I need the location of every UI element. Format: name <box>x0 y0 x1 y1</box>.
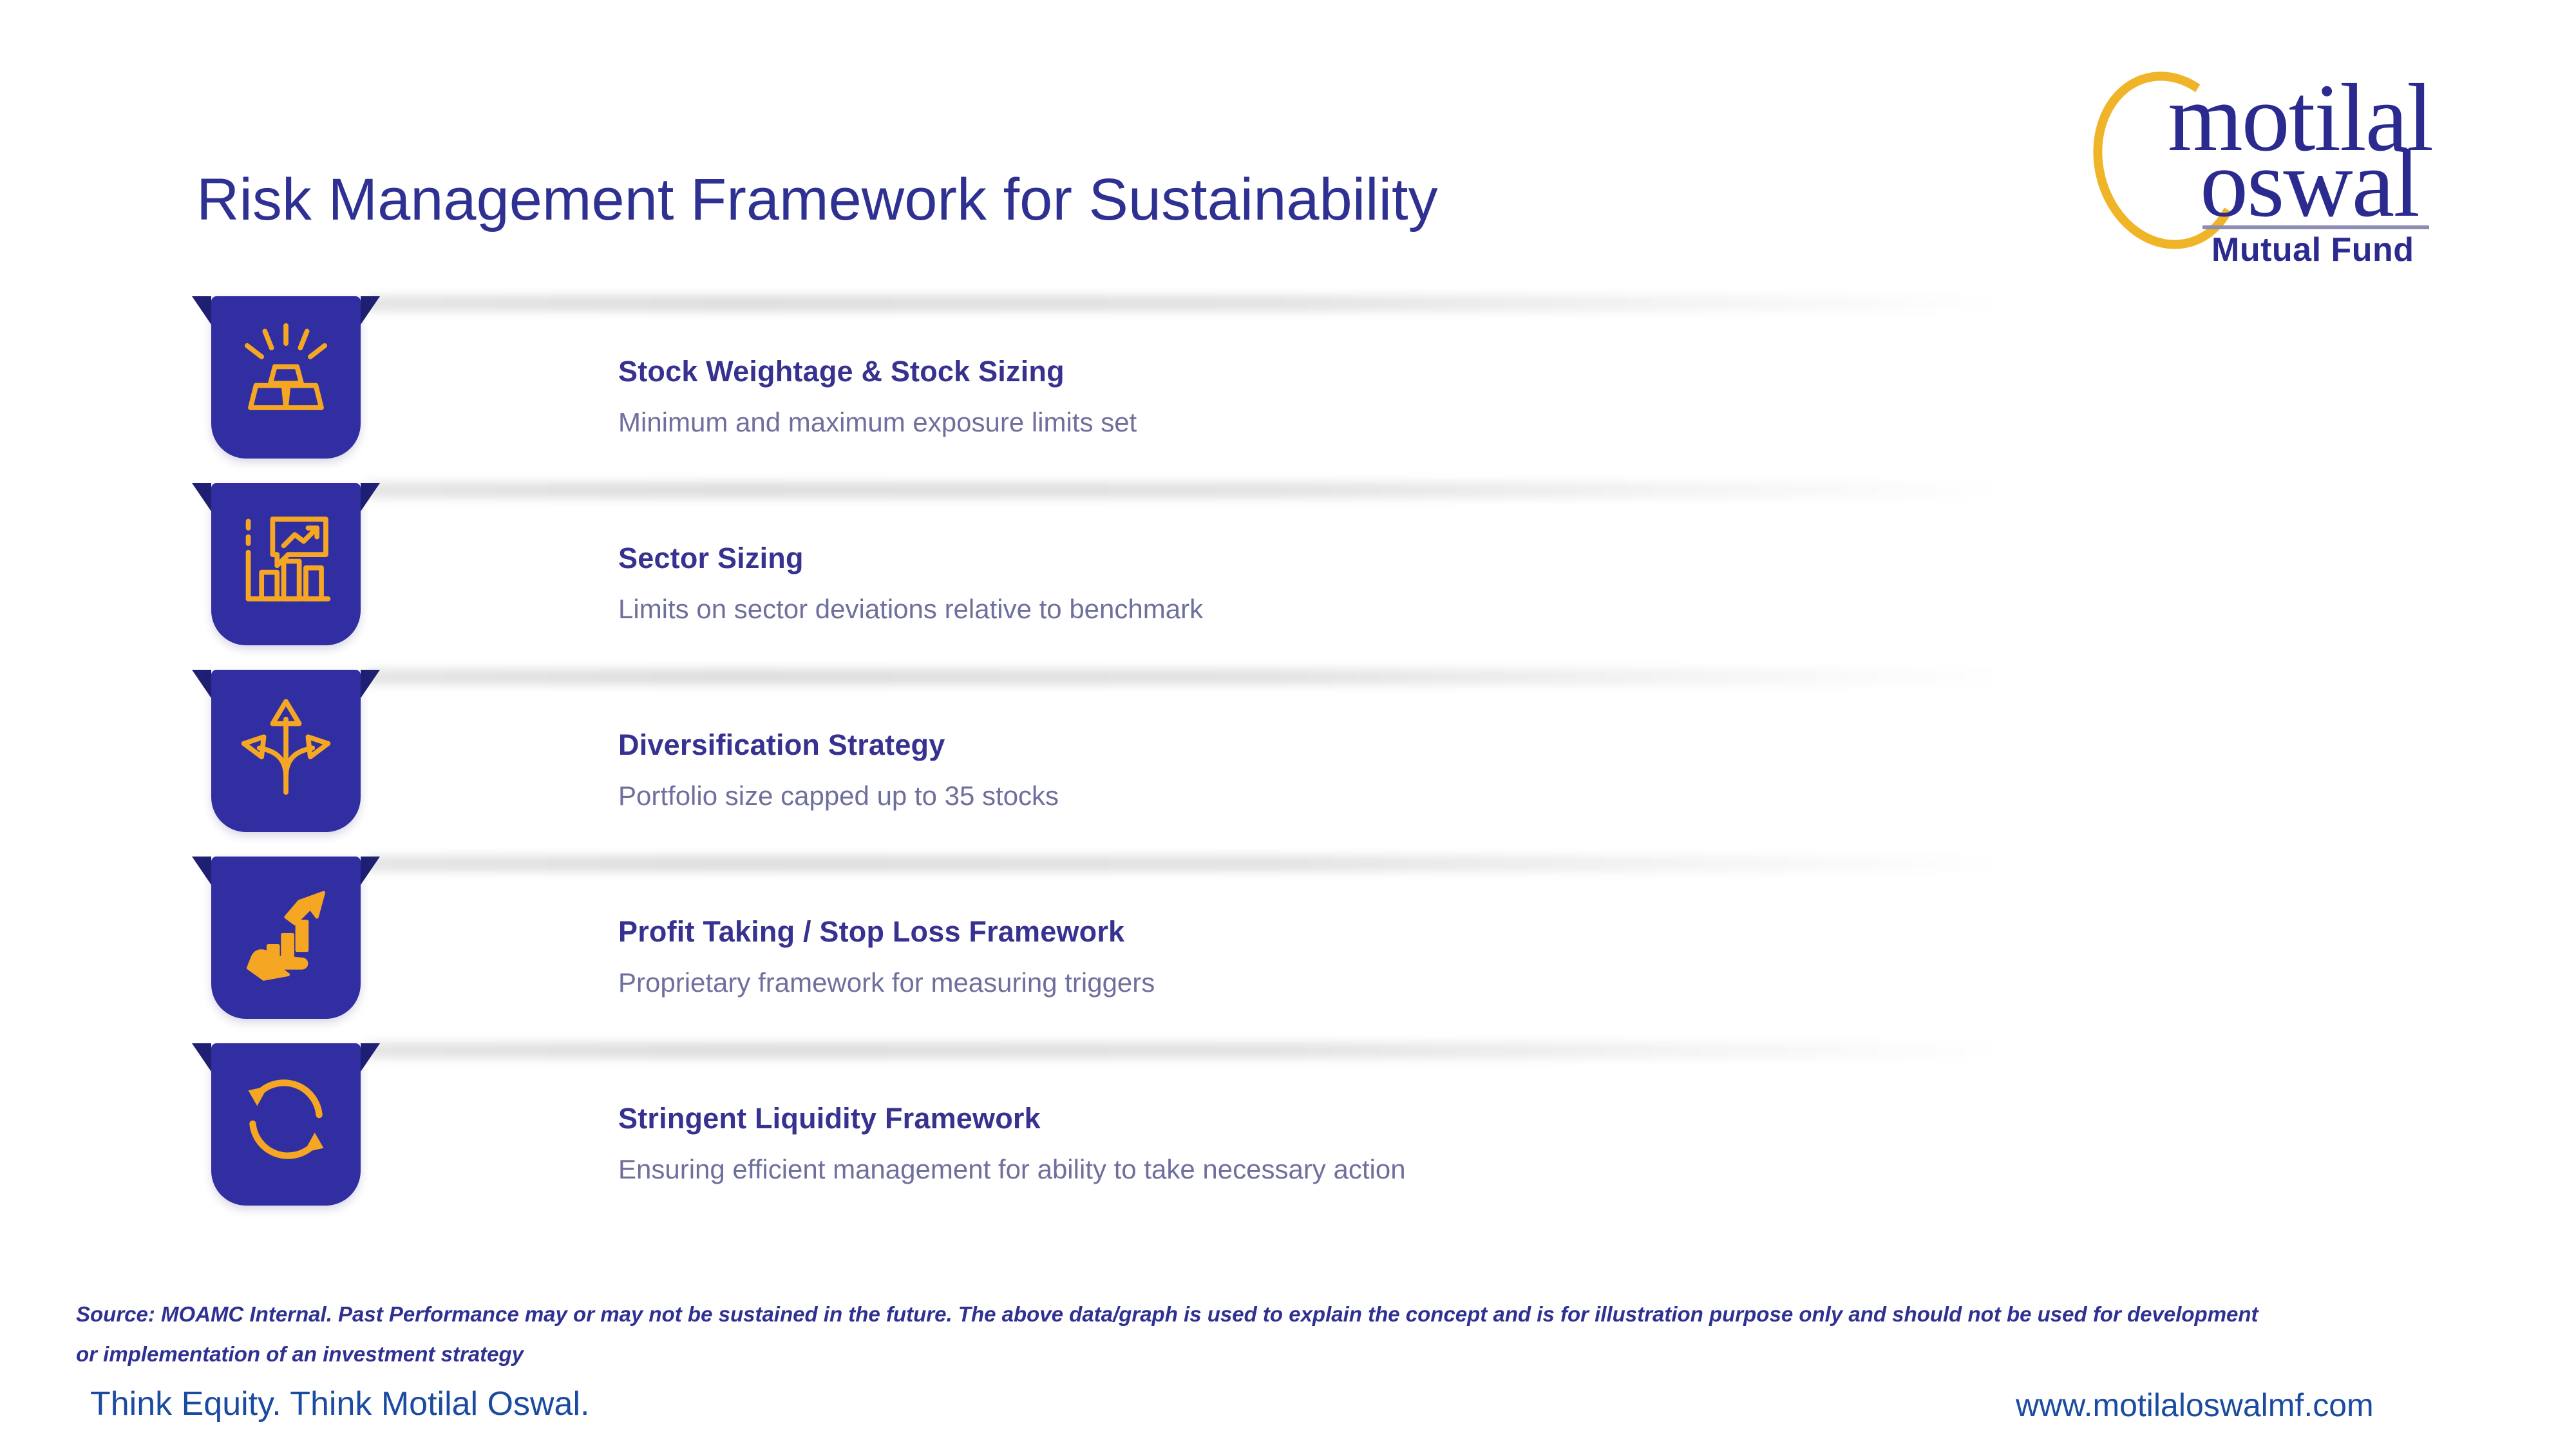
item-subtext: Portfolio size capped up to 35 stocks <box>618 781 1059 811</box>
logo-divider <box>2202 225 2429 229</box>
row-separator <box>367 668 2009 685</box>
gold-bars-icon <box>231 317 341 428</box>
bar-chart-growth-icon <box>231 504 341 614</box>
logo-line-mutual-fund: Mutual Fund <box>2211 232 2414 268</box>
list-item[interactable]: Diversification Strategy Portfolio size … <box>193 658 2125 845</box>
branching-arrows-icon <box>231 690 341 801</box>
badge-3 <box>211 658 361 832</box>
badge-tail-right <box>361 857 380 885</box>
badge-tail-right <box>361 296 380 325</box>
badge-2 <box>211 471 361 645</box>
badge-tail-right <box>361 1043 380 1072</box>
list-item[interactable]: Stringent Liquidity Framework Ensuring e… <box>193 1032 2125 1225</box>
badge-tail-left <box>192 1043 211 1072</box>
badge-1 <box>211 285 361 459</box>
badge-tail-right <box>361 483 380 511</box>
row-separator <box>367 295 2009 312</box>
page-title: Risk Management Framework for Sustainabi… <box>196 166 1438 233</box>
list-item[interactable]: Sector Sizing Limits on sector deviation… <box>193 471 2125 658</box>
badge-5 <box>211 1032 361 1206</box>
website-link[interactable]: www.motilaloswalmf.com <box>2016 1386 2374 1425</box>
source-note-line2: or implementation of an investment strat… <box>76 1334 2459 1374</box>
badge-tail-left <box>192 857 211 885</box>
brand-logo: motilal oswal Mutual Fund <box>2085 39 2497 270</box>
hand-rising-bars-icon <box>231 877 341 988</box>
item-heading: Stock Weightage & Stock Sizing <box>618 355 1065 388</box>
row-separator <box>367 855 2009 872</box>
item-heading: Sector Sizing <box>618 542 804 574</box>
badge-4 <box>211 845 361 1019</box>
item-heading: Stringent Liquidity Framework <box>618 1103 1041 1135</box>
item-subtext: Minimum and maximum exposure limits set <box>618 407 1137 438</box>
item-subtext: Proprietary framework for measuring trig… <box>618 967 1155 998</box>
item-heading: Profit Taking / Stop Loss Framework <box>618 916 1124 948</box>
list-item[interactable]: Stock Weightage & Stock Sizing Minimum a… <box>193 285 2125 471</box>
circular-arrows-icon <box>231 1064 341 1175</box>
badge-tail-right <box>361 670 380 698</box>
item-subtext: Ensuring efficient management for abilit… <box>618 1154 1406 1185</box>
framework-list: Stock Weightage & Stock Sizing Minimum a… <box>193 285 2125 1225</box>
source-note-line1: Source: MOAMC Internal. Past Performance… <box>76 1294 2459 1334</box>
item-subtext: Limits on sector deviations relative to … <box>618 594 1203 625</box>
source-note: Source: MOAMC Internal. Past Performance… <box>76 1294 2459 1374</box>
badge-tail-left <box>192 296 211 325</box>
list-item[interactable]: Profit Taking / Stop Loss Framework Prop… <box>193 845 2125 1032</box>
row-separator <box>367 1042 2009 1059</box>
badge-tail-left <box>192 483 211 511</box>
badge-tail-left <box>192 670 211 698</box>
tagline: Think Equity. Think Motilal Oswal. <box>90 1385 589 1423</box>
row-separator <box>367 482 2009 498</box>
logo-line-oswal: oswal <box>2200 135 2419 232</box>
item-heading: Diversification Strategy <box>618 729 945 761</box>
